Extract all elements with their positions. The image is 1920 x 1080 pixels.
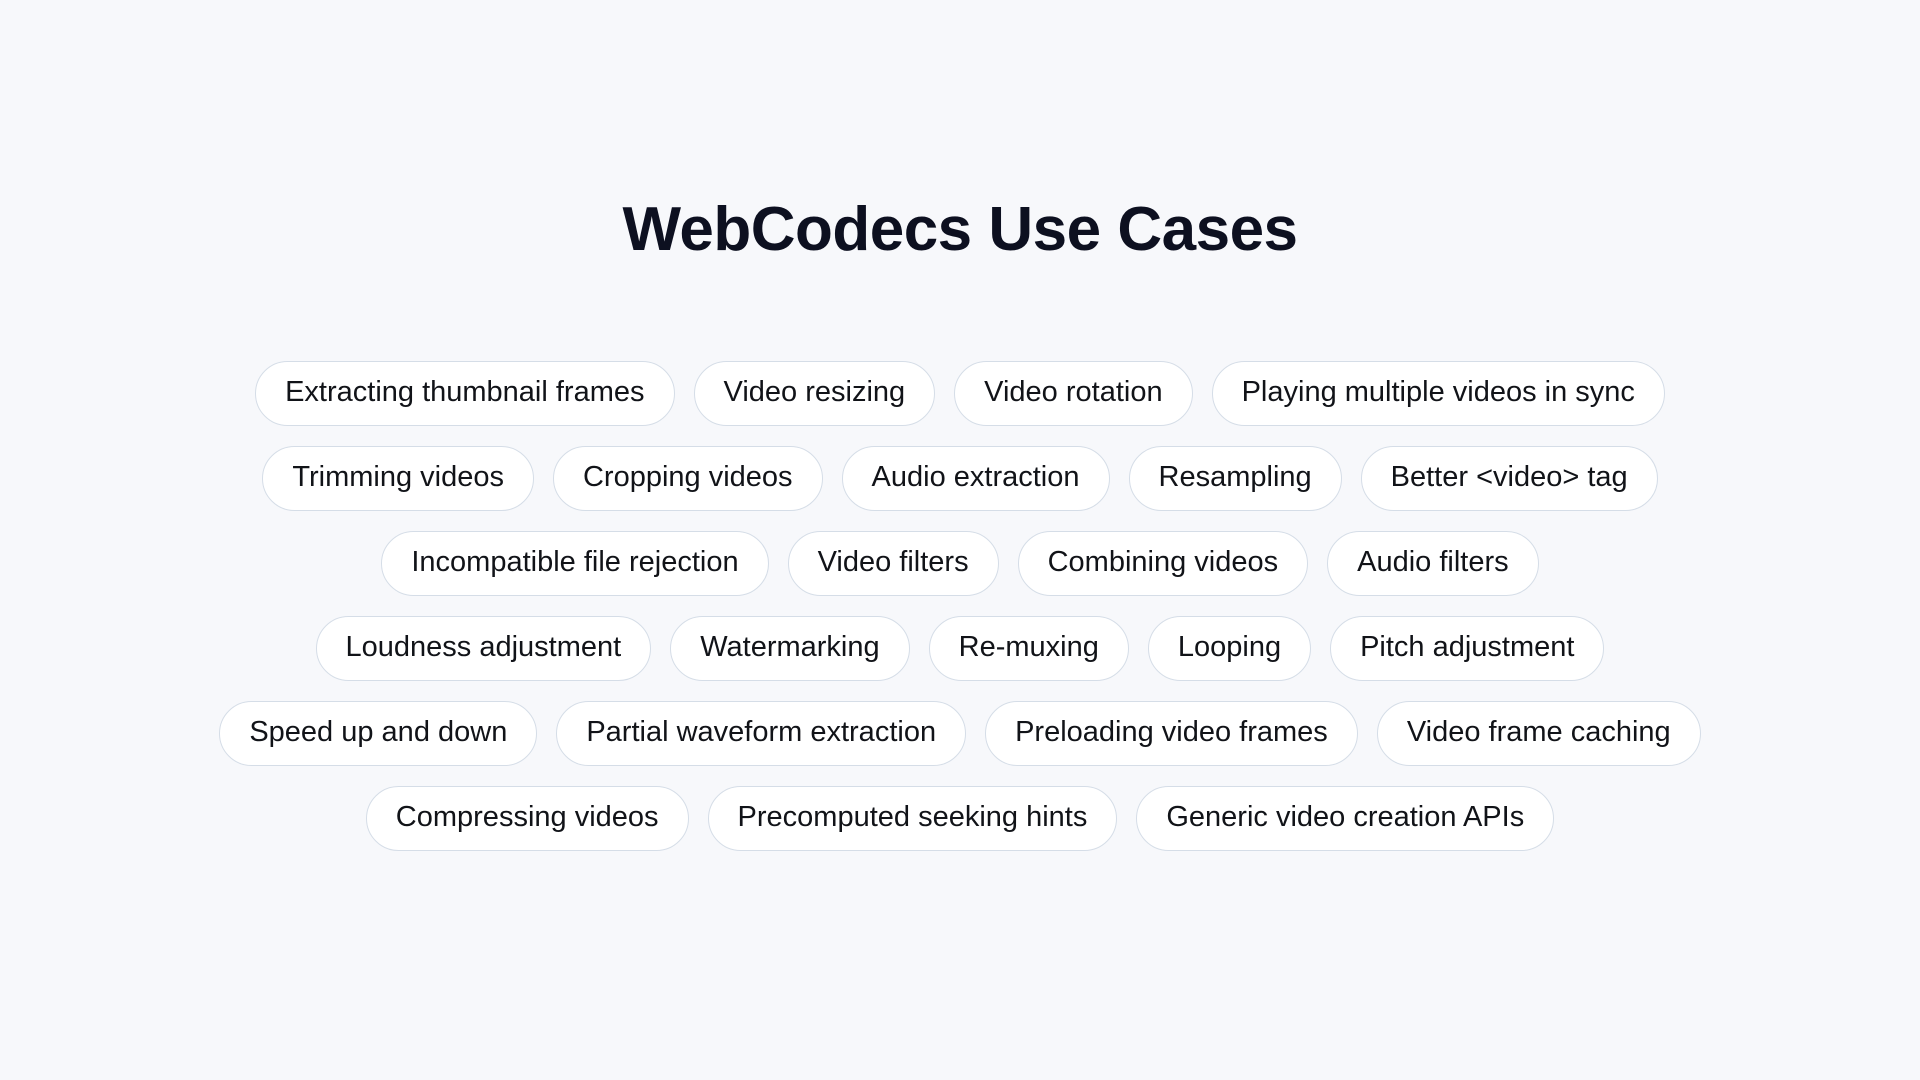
tag-pill[interactable]: Combining videos [1018,531,1309,596]
tag-pill[interactable]: Audio extraction [842,446,1110,511]
tag-pill[interactable]: Cropping videos [553,446,823,511]
tag-row: Speed up and down Partial waveform extra… [219,701,1700,766]
tag-row: Trimming videos Cropping videos Audio ex… [262,446,1657,511]
tag-row: Extracting thumbnail frames Video resizi… [255,361,1665,426]
tag-pill[interactable]: Watermarking [670,616,909,681]
tag-pill[interactable]: Playing multiple videos in sync [1212,361,1665,426]
tag-pill[interactable]: Loudness adjustment [316,616,652,681]
page-title: WebCodecs Use Cases [622,0,1297,264]
tag-pill[interactable]: Better <video> tag [1361,446,1658,511]
tag-pill[interactable]: Partial waveform extraction [556,701,966,766]
tag-pill[interactable]: Compressing videos [366,786,689,851]
tag-pill[interactable]: Trimming videos [262,446,534,511]
tag-cloud: Extracting thumbnail frames Video resizi… [140,361,1780,871]
tag-pill[interactable]: Generic video creation APIs [1136,786,1554,851]
tag-pill[interactable]: Video filters [788,531,999,596]
tag-pill[interactable]: Looping [1148,616,1311,681]
tag-pill[interactable]: Video rotation [954,361,1192,426]
tag-pill[interactable]: Precomputed seeking hints [708,786,1118,851]
tag-pill[interactable]: Audio filters [1327,531,1539,596]
tag-pill[interactable]: Video frame caching [1377,701,1701,766]
tag-pill[interactable]: Resampling [1129,446,1342,511]
tag-pill[interactable]: Preloading video frames [985,701,1358,766]
tag-pill[interactable]: Re-muxing [929,616,1129,681]
page-container: WebCodecs Use Cases Extracting thumbnail… [0,0,1920,1080]
tag-pill[interactable]: Extracting thumbnail frames [255,361,674,426]
tag-row: Incompatible file rejection Video filter… [381,531,1538,596]
tag-row: Compressing videos Precomputed seeking h… [366,786,1554,851]
tag-pill[interactable]: Speed up and down [219,701,537,766]
tag-pill[interactable]: Pitch adjustment [1330,616,1604,681]
tag-pill[interactable]: Video resizing [694,361,936,426]
tag-pill[interactable]: Incompatible file rejection [381,531,768,596]
tag-row: Loudness adjustment Watermarking Re-muxi… [316,616,1605,681]
